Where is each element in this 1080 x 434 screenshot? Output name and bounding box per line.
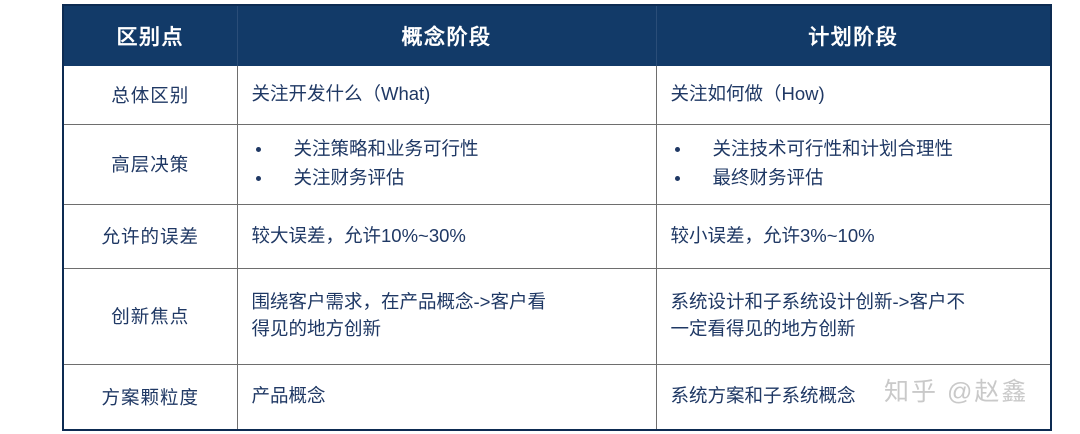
column-header-criteria: 区别点: [63, 5, 237, 66]
comparison-table: 区别点 概念阶段 计划阶段 总体区别 关注开发什么（What) 关注如何做（Ho…: [62, 4, 1052, 431]
table-body: 总体区别 关注开发什么（What) 关注如何做（How) 高层决策 关注策略和业…: [63, 66, 1051, 430]
table-header: 区别点 概念阶段 计划阶段: [63, 5, 1051, 66]
cell-text-line: 系统设计和子系统设计创新->客户不: [671, 289, 1041, 316]
table-row: 总体区别 关注开发什么（What) 关注如何做（How): [63, 66, 1051, 124]
bullet-list: 关注技术可行性和计划合理性 最终财务评估: [671, 135, 1041, 192]
table-row: 方案颗粒度 产品概念 系统方案和子系统概念: [63, 364, 1051, 430]
cell-text-line: 一定看得见的地方创新: [671, 316, 1041, 343]
page-root: 区别点 概念阶段 计划阶段 总体区别 关注开发什么（What) 关注如何做（Ho…: [0, 0, 1080, 434]
bullet-item: 关注技术可行性和计划合理性: [671, 135, 1041, 164]
table-row: 创新焦点 围绕客户需求，在产品概念->客户看 得见的地方创新 系统设计和子系统设…: [63, 268, 1051, 364]
row-label-allowed-tolerance: 允许的误差: [63, 204, 237, 268]
cell-concept-innovation-focus: 围绕客户需求，在产品概念->客户看 得见的地方创新: [237, 268, 656, 364]
cell-plan-allowed-tolerance: 较小误差，允许3%~10%: [656, 204, 1051, 268]
bullet-item: 最终财务评估: [671, 164, 1041, 193]
row-label-high-level-decision: 高层决策: [63, 124, 237, 204]
row-label-overall-difference: 总体区别: [63, 66, 237, 124]
column-header-concept-phase: 概念阶段: [237, 5, 656, 66]
bullet-list: 关注策略和业务可行性 关注财务评估: [252, 135, 646, 192]
column-header-plan-phase: 计划阶段: [656, 5, 1051, 66]
cell-text-line: 围绕客户需求，在产品概念->客户看: [252, 289, 646, 316]
cell-concept-high-level-decision: 关注策略和业务可行性 关注财务评估: [237, 124, 656, 204]
cell-text-line: 较小误差，允许3%~10%: [671, 223, 1041, 250]
cell-plan-overall-difference: 关注如何做（How): [656, 66, 1051, 124]
row-label-innovation-focus: 创新焦点: [63, 268, 237, 364]
row-label-solution-granularity: 方案颗粒度: [63, 364, 237, 430]
cell-plan-innovation-focus: 系统设计和子系统设计创新->客户不 一定看得见的地方创新: [656, 268, 1051, 364]
cell-plan-solution-granularity: 系统方案和子系统概念: [656, 364, 1051, 430]
cell-text-line: 产品概念: [252, 383, 646, 410]
cell-text-line: 关注如何做（How): [671, 81, 1041, 108]
cell-concept-allowed-tolerance: 较大误差，允许10%~30%: [237, 204, 656, 268]
bullet-item: 关注策略和业务可行性: [252, 135, 646, 164]
table-row: 高层决策 关注策略和业务可行性 关注财务评估 关注技术可行性和计划合理性 最终财…: [63, 124, 1051, 204]
table-header-row: 区别点 概念阶段 计划阶段: [63, 5, 1051, 66]
cell-plan-high-level-decision: 关注技术可行性和计划合理性 最终财务评估: [656, 124, 1051, 204]
table-row: 允许的误差 较大误差，允许10%~30% 较小误差，允许3%~10%: [63, 204, 1051, 268]
cell-text-line: 关注开发什么（What): [252, 81, 646, 108]
cell-text-line: 系统方案和子系统概念: [671, 383, 1041, 410]
cell-concept-overall-difference: 关注开发什么（What): [237, 66, 656, 124]
bullet-item: 关注财务评估: [252, 164, 646, 193]
cell-text-line: 得见的地方创新: [252, 316, 646, 343]
cell-concept-solution-granularity: 产品概念: [237, 364, 656, 430]
cell-text-line: 较大误差，允许10%~30%: [252, 223, 646, 250]
